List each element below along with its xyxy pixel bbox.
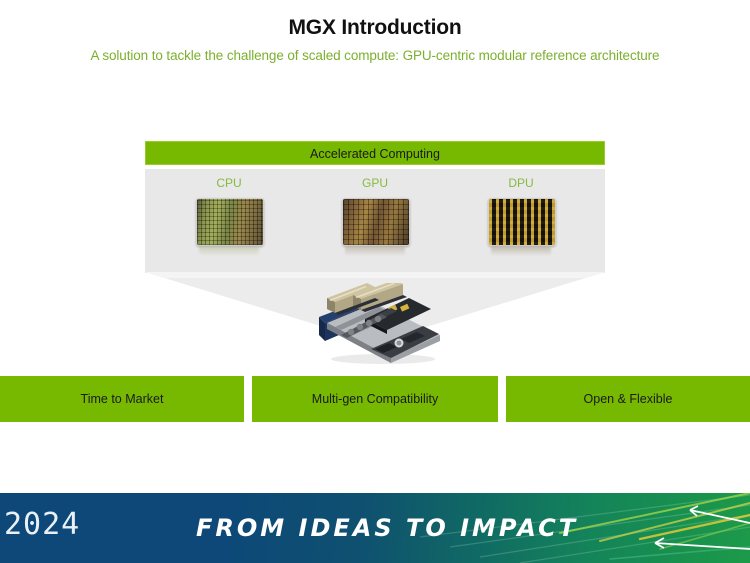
gpu-die-image <box>342 198 408 256</box>
dpu-die-surface <box>488 198 556 246</box>
processor-label-dpu: DPU <box>451 176 591 190</box>
cpu-die-reflection <box>199 247 259 256</box>
accelerated-computing-header: Accelerated Computing <box>145 141 605 165</box>
accelerated-computing-group: Accelerated Computing CPU GPU DPU <box>145 141 605 273</box>
page-subtitle: A solution to tackle the challenge of sc… <box>0 48 750 63</box>
gpu-die-surface <box>342 198 410 246</box>
cpu-die-surface <box>196 198 264 246</box>
processor-panel: CPU GPU DPU <box>145 169 605 273</box>
mgx-server-chassis-image <box>305 283 455 368</box>
footer-year: 2024 <box>4 507 80 542</box>
footer-tagline: FROM IDEAS TO IMPACT <box>196 514 578 542</box>
dpu-die-reflection <box>491 247 551 256</box>
gpu-die-reflection <box>345 247 405 256</box>
benefit-bar-open-and-flexible[interactable]: Open & Flexible <box>506 376 750 422</box>
processor-label-gpu: GPU <box>305 176 445 190</box>
page-title: MGX Introduction <box>0 16 750 40</box>
benefits-bar-row: Time to Market Multi-gen Compatibility O… <box>0 376 750 422</box>
processor-item-cpu: CPU <box>159 169 299 273</box>
dpu-die-image <box>488 198 554 256</box>
processor-item-gpu: GPU <box>305 169 445 273</box>
benefit-bar-time-to-market[interactable]: Time to Market <box>0 376 244 422</box>
processor-label-cpu: CPU <box>159 176 299 190</box>
benefit-bar-multi-gen-compatibility[interactable]: Multi-gen Compatibility <box>252 376 498 422</box>
processor-item-dpu: DPU <box>451 169 591 273</box>
footer-banner: 2024 FROM IDEAS TO IMPACT <box>0 493 750 563</box>
cpu-die-image <box>196 198 262 256</box>
